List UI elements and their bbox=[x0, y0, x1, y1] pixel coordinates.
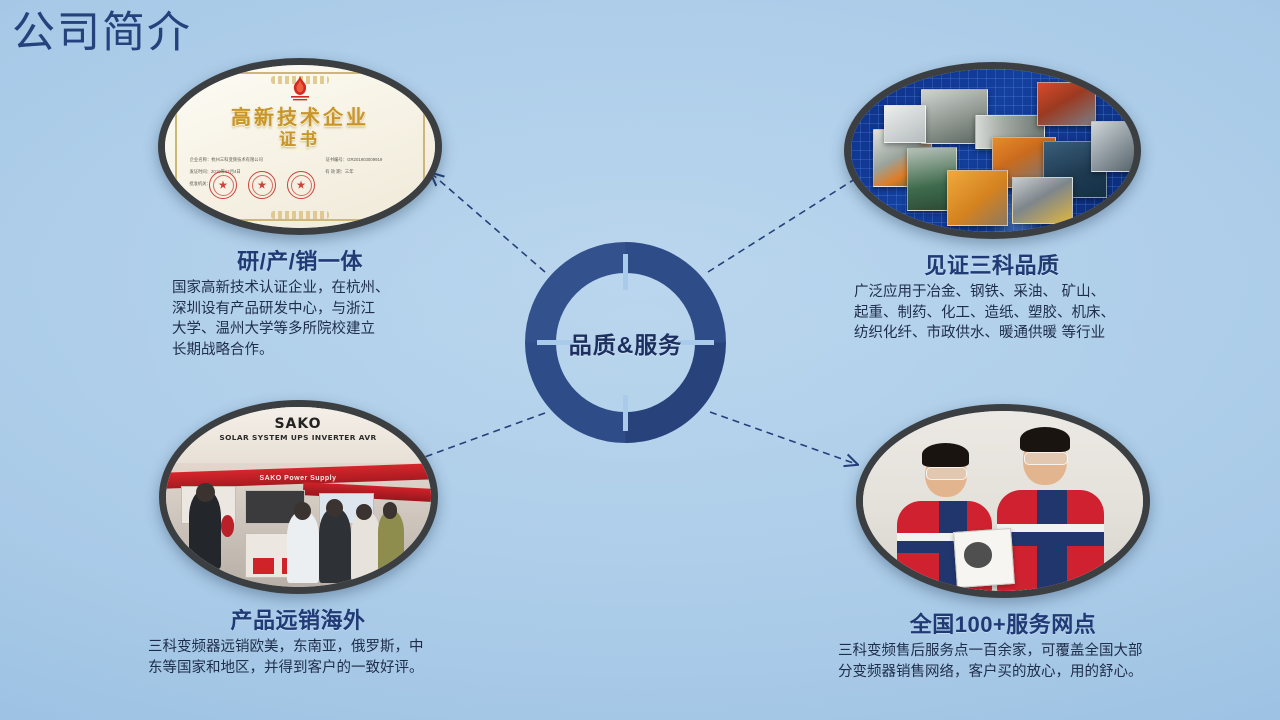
node-body-line: 东等国家和地区，并得到客户的一致好评。 bbox=[148, 658, 448, 679]
booth-brand-label: SAKO bbox=[166, 416, 431, 432]
node-body-line: 纺织化纤、市政供水、暖通供暖 等行业 bbox=[854, 323, 1152, 344]
node-body: 广泛应用于冶金、钢铁、采油、 矿山、 起重、制药、化工、造纸、塑胶、机床、 纺织… bbox=[832, 282, 1152, 344]
certificate-field-company: 企业名称：杭州三科变频技术有限公司 bbox=[190, 157, 263, 163]
certificate-field-authority: 批准机关： bbox=[189, 181, 211, 187]
node-research-production-sales[interactable]: 高新技术企业 证书 企业名称：杭州三科变频技术有限公司 发证时间：2019年12… bbox=[150, 58, 450, 360]
technician-right-navy-band bbox=[997, 532, 1103, 546]
center-hub: 品质&服务 bbox=[523, 240, 728, 445]
technicians-photo bbox=[863, 411, 1143, 591]
technician-right-safety-glasses-icon bbox=[1024, 452, 1068, 465]
node-body-line: 长期战略合作。 bbox=[172, 340, 450, 361]
industry-collage-photo bbox=[851, 69, 1134, 232]
booth-tagline-label: SOLAR SYSTEM UPS INVERTER AVR bbox=[166, 433, 431, 442]
hub-label: 品质&服务 bbox=[523, 240, 728, 445]
connector-bottom-right bbox=[710, 412, 856, 464]
certificate-field-validity: 有 效 期：三年 bbox=[325, 169, 353, 175]
visitor-head bbox=[326, 499, 343, 517]
collage-photo bbox=[1091, 121, 1133, 172]
node-body: 国家高新技术认证企业，在杭州、 深圳设有产品研发中心，与浙江 大学、温州大学等多… bbox=[150, 278, 450, 360]
page-title: 公司简介 bbox=[12, 12, 192, 55]
official-seal-icon bbox=[287, 171, 315, 199]
node-heading: 产品远销海外 bbox=[148, 603, 448, 635]
certificate-title-line2: 证书 bbox=[165, 125, 435, 150]
node-image-industry-collage bbox=[844, 62, 1141, 239]
slide-canvas: 公司简介 bbox=[0, 0, 1280, 720]
collage-photo bbox=[884, 105, 926, 143]
technician-right-white-stripe bbox=[997, 524, 1103, 531]
visitor-silhouette bbox=[287, 511, 319, 583]
node-witness-sanke-quality[interactable]: 见证三科品质 广泛应用于冶金、钢铁、采油、 矿山、 起重、制药、化工、造纸、塑胶… bbox=[832, 62, 1152, 344]
collage-photo bbox=[947, 170, 1008, 226]
node-nationwide-service-network[interactable]: 全国100+服务网点 三科变频售后服务点一百余家，可覆盖全国大部 分变频器销售网… bbox=[838, 404, 1168, 682]
flame-emblem-icon bbox=[288, 76, 312, 102]
node-heading: 研/产/销一体 bbox=[150, 244, 450, 276]
technician-left-hair bbox=[922, 443, 970, 466]
technician-right-hair bbox=[1020, 427, 1070, 452]
ornament-bottom-icon bbox=[271, 211, 329, 219]
node-body-line: 广泛应用于冶金、钢铁、采油、 矿山、 bbox=[854, 282, 1152, 303]
node-body-line: 起重、制药、化工、造纸、塑胶、机床、 bbox=[854, 303, 1152, 324]
visitor-head bbox=[196, 483, 215, 503]
certificate-seals bbox=[209, 171, 315, 199]
node-body-line: 国家高新技术认证企业，在杭州、 bbox=[172, 278, 450, 299]
node-image-technicians bbox=[856, 404, 1150, 598]
collage-photo bbox=[1012, 177, 1073, 225]
technician-left-safety-glasses-icon bbox=[926, 467, 967, 480]
visitor-silhouette bbox=[319, 508, 351, 584]
node-image-certificate: 高新技术企业 证书 企业名称：杭州三科变频技术有限公司 发证时间：2019年12… bbox=[158, 58, 442, 235]
node-body: 三科变频器远销欧美，东南亚，俄罗斯，中 东等国家和地区，并得到客户的一致好评。 bbox=[148, 637, 448, 678]
node-body-line: 分变频器销售网络，客户买的放心，用的舒心。 bbox=[838, 662, 1168, 683]
visitor-silhouette bbox=[378, 510, 405, 575]
certificate-field-number: 证书编号：GR201903009919 bbox=[326, 157, 383, 163]
certificate-photo: 高新技术企业 证书 企业名称：杭州三科变频技术有限公司 发证时间：2019年12… bbox=[165, 65, 435, 228]
collage-photo bbox=[1037, 82, 1096, 126]
node-image-trade-show: SAKO SOLAR SYSTEM UPS INVERTER AVR SAKO … bbox=[159, 400, 438, 594]
node-body-line: 三科变频售后服务点一百余家，可覆盖全国大部 bbox=[838, 641, 1168, 662]
node-body-line: 三科变频器远销欧美，东南亚，俄罗斯，中 bbox=[148, 637, 448, 658]
node-body: 三科变频售后服务点一百余家，可覆盖全国大部 分变频器销售网络，客户买的放心，用的… bbox=[838, 641, 1168, 682]
booth-subsign-label: SAKO Power Supply bbox=[166, 475, 431, 482]
node-body-line: 大学、温州大学等多所院校建立 bbox=[172, 319, 450, 340]
visitor-silhouette bbox=[351, 511, 380, 579]
booth-product bbox=[221, 515, 234, 537]
booth-product bbox=[253, 558, 274, 574]
official-seal-icon bbox=[248, 171, 276, 199]
trade-show-photo: SAKO SOLAR SYSTEM UPS INVERTER AVR SAKO … bbox=[166, 407, 431, 587]
node-products-exported-overseas[interactable]: SAKO SOLAR SYSTEM UPS INVERTER AVR SAKO … bbox=[148, 400, 448, 678]
node-heading: 全国100+服务网点 bbox=[838, 607, 1168, 639]
visitor-head bbox=[383, 502, 398, 518]
official-seal-icon bbox=[209, 171, 237, 199]
node-body-line: 深圳设有产品研发中心，与浙江 bbox=[172, 299, 450, 320]
product-box-logo-icon bbox=[964, 542, 992, 567]
node-heading: 见证三科品质 bbox=[832, 248, 1152, 280]
